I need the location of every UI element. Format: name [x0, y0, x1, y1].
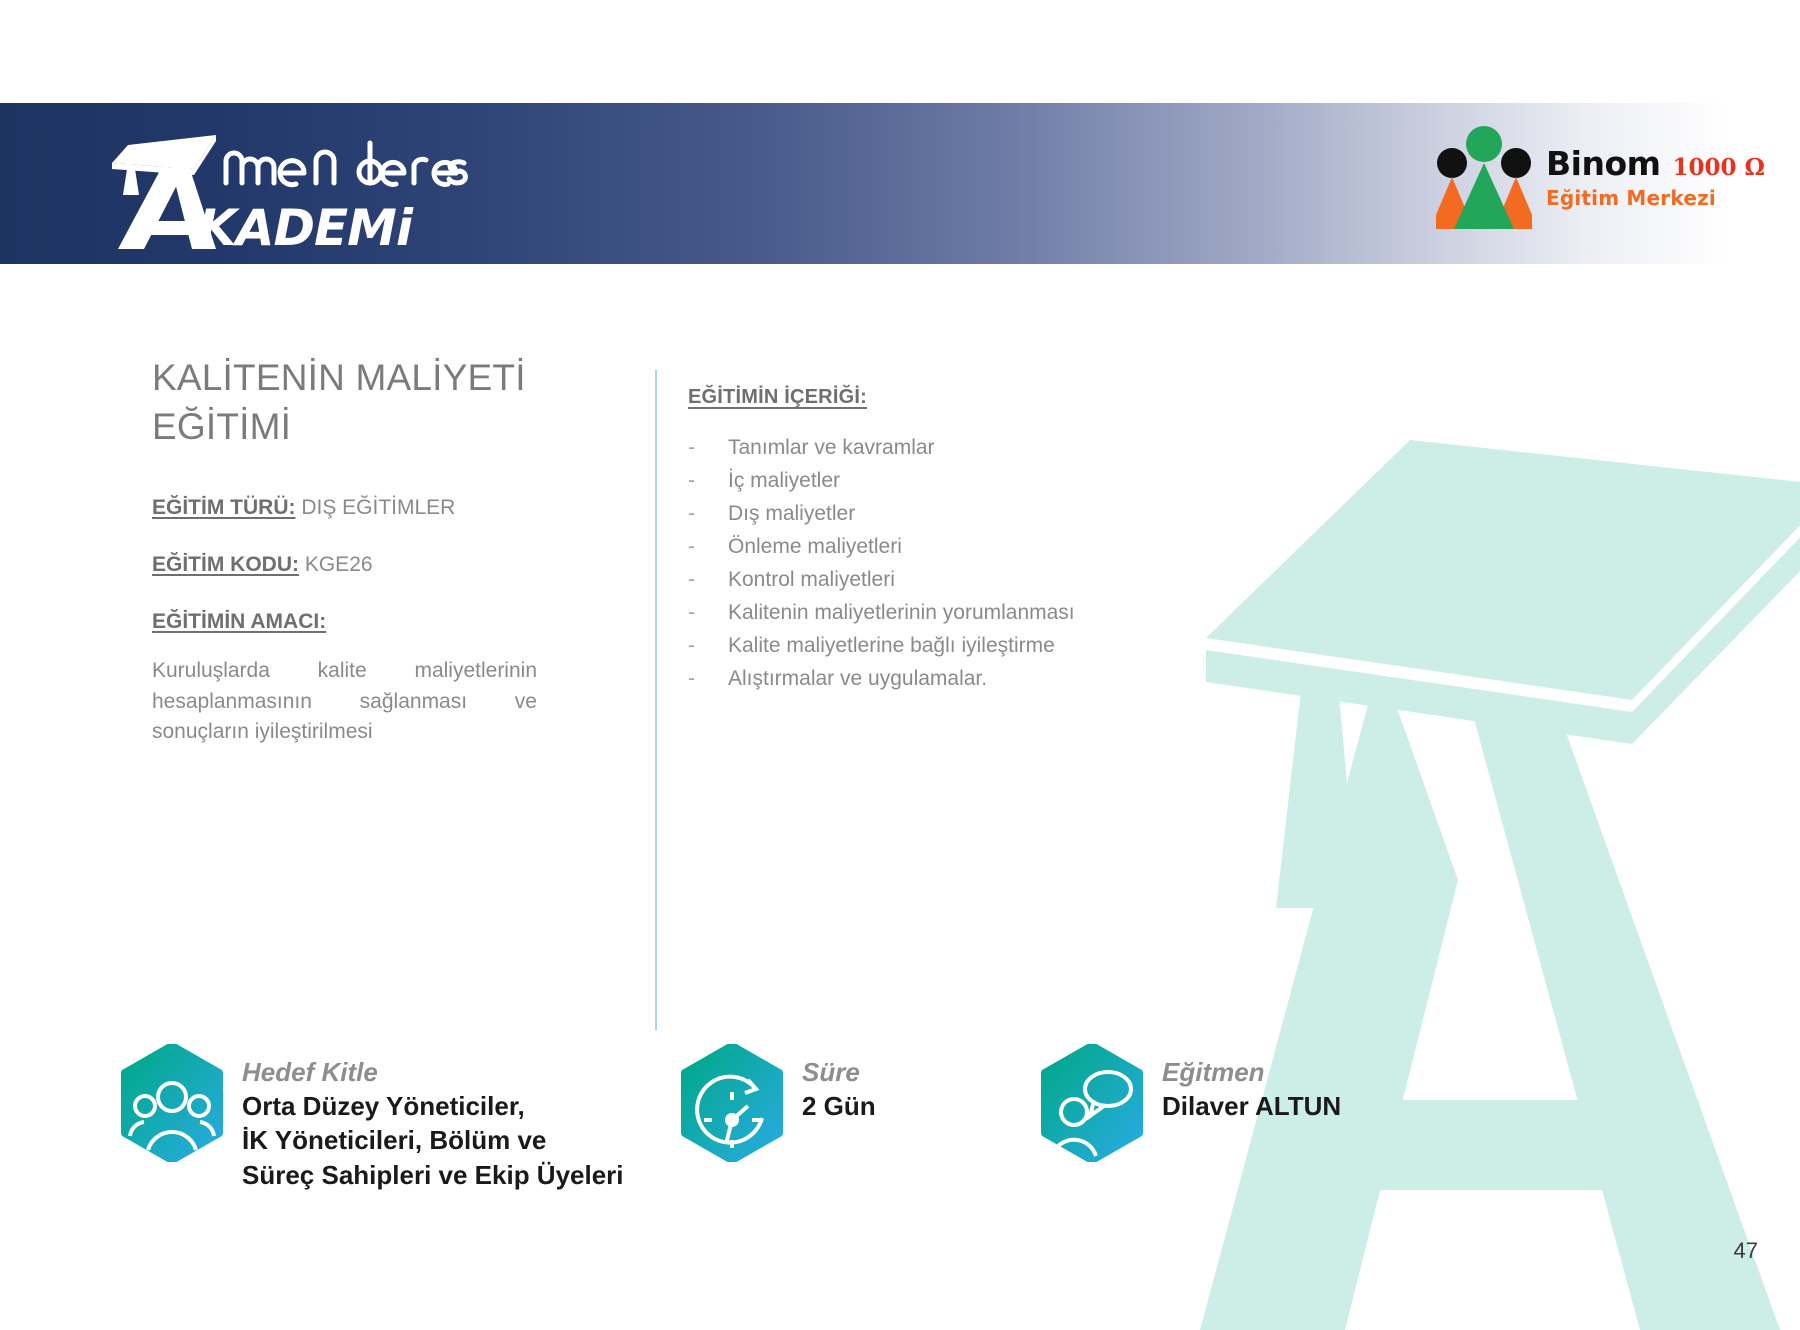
- bullet-dash: -: [688, 536, 728, 557]
- meta-value-training-type: DIŞ EĞİTİMLER: [301, 496, 455, 519]
- bullet-dash: -: [688, 602, 728, 623]
- meta-label-training-code: EĞİTİM KODU:: [152, 553, 299, 576]
- badge-trainer: Eğitmen Dilaver ALTUN: [1040, 1044, 1341, 1162]
- binom-partner-logo: Binom 1000 Ω Eğitim Merkezi: [1436, 125, 1765, 229]
- binom-ohm-rating: 1000 Ω: [1673, 156, 1766, 179]
- badge-target-audience: Hedef Kitle Orta Düzey Yöneticiler, İK Y…: [120, 1044, 624, 1192]
- badge-duration: Süre 2 Gün: [680, 1044, 876, 1162]
- meta-row-purpose: EĞİTİMİN AMACI:: [152, 610, 544, 634]
- page-number: 47: [1734, 1238, 1758, 1264]
- list-item-label: Önleme maliyetleri: [728, 536, 902, 557]
- bullet-dash: -: [688, 668, 728, 689]
- list-item: - Önleme maliyetleri: [688, 536, 1328, 557]
- list-item-label: Dış maliyetler: [728, 503, 855, 524]
- person-speech-bubble-icon: [1040, 1044, 1144, 1162]
- list-item: - Tanımlar ve kavramlar: [688, 437, 1328, 458]
- left-column: KALİTENİN MALİYETİ EĞİTİMİ EĞİTİM TÜRÜ: …: [152, 354, 544, 748]
- footer-badges: Hedef Kitle Orta Düzey Yöneticiler, İK Y…: [0, 1030, 1800, 1292]
- bullet-dash: -: [688, 635, 728, 656]
- list-item: - Kontrol maliyetleri: [688, 569, 1328, 590]
- list-item: - Kalitenin maliyetlerinin yorumlanması: [688, 602, 1328, 623]
- list-item-label: Tanımlar ve kavramlar: [728, 437, 935, 458]
- page-header: KADEMi Binom 1000 Ω Eğitim Merkezi: [0, 103, 1800, 264]
- list-item-label: Kalitenin maliyetlerinin yorumlanması: [728, 602, 1075, 623]
- list-item: - İç maliyetler: [688, 470, 1328, 491]
- purpose-text: Kuruluşlarda kalite maliyetlerinin hesap…: [152, 656, 537, 749]
- bullet-dash: -: [688, 569, 728, 590]
- bullet-dash: -: [688, 503, 728, 524]
- badge-kicker-audience: Hedef Kitle: [242, 1056, 624, 1089]
- page-title: KALİTENİN MALİYETİ EĞİTİMİ: [152, 354, 544, 452]
- content-list: - Tanımlar ve kavramlar - İç maliyetler …: [688, 437, 1328, 689]
- meta-label-training-type: EĞİTİM TÜRÜ:: [152, 496, 295, 519]
- three-people-icon: [1436, 125, 1532, 229]
- content-heading: EĞİTİMİN İÇERİĞİ:: [688, 386, 1328, 409]
- list-item-label: Alıştırmalar ve uygulamalar.: [728, 668, 987, 689]
- badge-value-duration: 2 Gün: [802, 1089, 876, 1124]
- meta-label-purpose: EĞİTİMİN AMACI:: [152, 610, 326, 633]
- badge-value-audience: Orta Düzey Yöneticiler, İK Yöneticileri,…: [242, 1089, 624, 1193]
- binom-subtitle: Eğitim Merkezi: [1546, 188, 1765, 208]
- svg-text:KADEMi: KADEMi: [198, 199, 414, 252]
- bullet-dash: -: [688, 470, 728, 491]
- meta-value-training-code: KGE26: [305, 553, 373, 576]
- people-group-icon: [120, 1044, 224, 1162]
- list-item: - Alıştırmalar ve uygulamalar.: [688, 668, 1328, 689]
- badge-value-trainer: Dilaver ALTUN: [1162, 1089, 1341, 1124]
- list-item: - Kalite maliyetlerine bağlı iyileştirme: [688, 635, 1328, 656]
- list-item-label: Kontrol maliyetleri: [728, 569, 895, 590]
- meta-row-training-type: EĞİTİM TÜRÜ: DIŞ EĞİTİMLER: [152, 496, 544, 520]
- clock-icon: [680, 1044, 784, 1162]
- list-item: - Dış maliyetler: [688, 503, 1328, 524]
- binom-name: Binom: [1546, 147, 1661, 180]
- bullet-dash: -: [688, 437, 728, 458]
- column-divider: [655, 370, 657, 1030]
- right-column: EĞİTİMİN İÇERİĞİ: - Tanımlar ve kavramla…: [688, 386, 1328, 701]
- menderes-akademi-logo: KADEMi: [108, 117, 468, 252]
- list-item-label: Kalite maliyetlerine bağlı iyileştirme: [728, 635, 1055, 656]
- badge-kicker-duration: Süre: [802, 1056, 876, 1089]
- meta-row-training-code: EĞİTİM KODU: KGE26: [152, 553, 544, 577]
- badge-kicker-trainer: Eğitmen: [1162, 1056, 1341, 1089]
- list-item-label: İç maliyetler: [728, 470, 840, 491]
